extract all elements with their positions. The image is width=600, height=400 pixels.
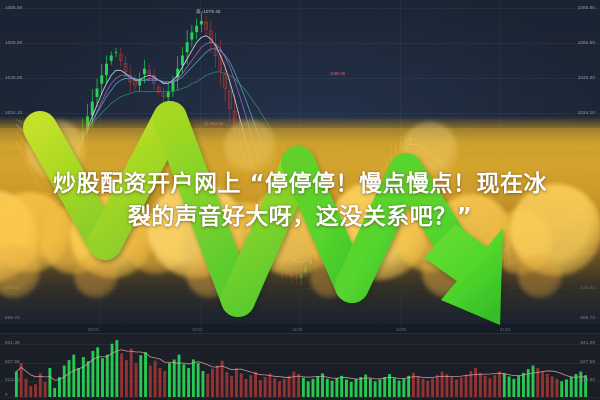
headline-line-2: 裂的声音好大呀，这没关系吧？” (0, 201, 600, 234)
headline-line-1: 炒股配资开户网上 “停停停！慢点慢点！现在冰 (53, 171, 547, 197)
headline-text: 炒股配资开户网上 “停停停！慢点慢点！现在冰 裂的声音好大呀，这没关系吧？” (0, 168, 600, 234)
stock-chart-banner: 1086.80 1065.90 1045.00 1024.10 1003.20 … (0, 0, 600, 400)
